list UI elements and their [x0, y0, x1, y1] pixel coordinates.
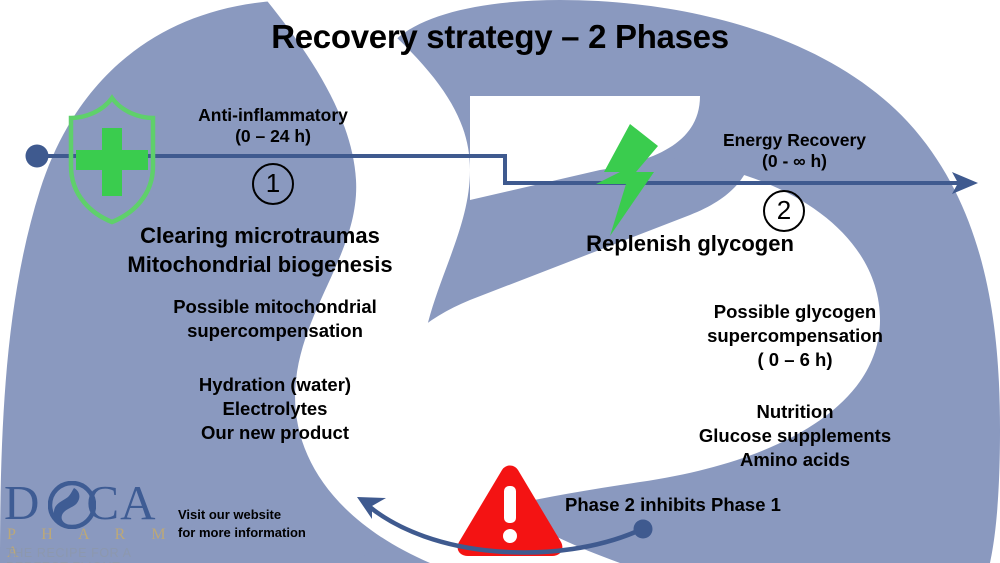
phase2-interventions-list: Nutrition Glucose supplements Amino acid…: [640, 400, 950, 472]
inhibition-note: Phase 2 inhibits Phase 1: [565, 493, 835, 517]
phase1-list-line3: Our new product: [80, 421, 470, 445]
phase1-main-line1: Clearing microtraumas: [60, 222, 460, 251]
website-callout[interactable]: Visit our website for more information: [178, 506, 338, 541]
phase2-number-badge: 2: [763, 190, 805, 232]
phase2-super-line1: Possible glycogen: [645, 300, 945, 324]
phase2-heading-line1: Energy Recovery: [672, 130, 917, 151]
phase2-main-line1: Replenish glycogen: [520, 230, 860, 259]
doca-pharma-logo[interactable]: DCA P H A R M A THE RECIPE FOR A PERFECT…: [4, 478, 180, 558]
phase2-list-line3: Amino acids: [640, 448, 950, 472]
phase1-list-line1: Hydration (water): [80, 373, 470, 397]
logo-letters-ca: CA: [86, 475, 156, 530]
pigeon-icon: [48, 481, 96, 529]
phase1-heading-line1: Anti-inflammatory: [148, 105, 398, 126]
phase1-heading: Anti-inflammatory (0 – 24 h): [148, 105, 398, 148]
phase1-interventions-list: Hydration (water) Electrolytes Our new p…: [80, 373, 470, 445]
slide-canvas: Recovery strategy – 2 Phases Anti-inflam…: [0, 0, 1000, 563]
phase1-number-badge: 1: [252, 163, 294, 205]
phase1-list-line2: Electrolytes: [80, 397, 470, 421]
phase2-heading-line2: (0 - ∞ h): [672, 151, 917, 172]
phase1-super-line2: supercompensation: [85, 319, 465, 343]
feedback-arrow-dot: [634, 520, 653, 539]
phase2-heading: Energy Recovery (0 - ∞ h): [672, 130, 917, 173]
phase2-super-line3: ( 0 – 6 h): [645, 348, 945, 372]
logo-tagline: THE RECIPE FOR A PERFECT FLIGHT: [6, 546, 180, 563]
logo-bird-silhouette: [54, 488, 80, 524]
phase1-heading-line2: (0 – 24 h): [148, 126, 398, 147]
phase2-list-line2: Glucose supplements: [640, 424, 950, 448]
page-title: Recovery strategy – 2 Phases: [0, 18, 1000, 56]
phase1-main-line2: Mitochondrial biogenesis: [60, 251, 460, 280]
website-callout-line1: Visit our website: [178, 506, 338, 524]
phase2-supercompensation-text: Possible glycogen supercompensation ( 0 …: [645, 300, 945, 372]
phase1-main-text: Clearing microtraumas Mitochondrial biog…: [60, 222, 460, 279]
website-callout-line2: for more information: [178, 524, 338, 542]
phase2-main-text: Replenish glycogen: [520, 230, 860, 259]
phase2-super-line2: supercompensation: [645, 324, 945, 348]
phase1-supercompensation-text: Possible mitochondrial supercompensation: [85, 295, 465, 343]
logo-letter-d: D: [4, 475, 40, 530]
phase1-super-line1: Possible mitochondrial: [85, 295, 465, 319]
phase2-list-line1: Nutrition: [640, 400, 950, 424]
